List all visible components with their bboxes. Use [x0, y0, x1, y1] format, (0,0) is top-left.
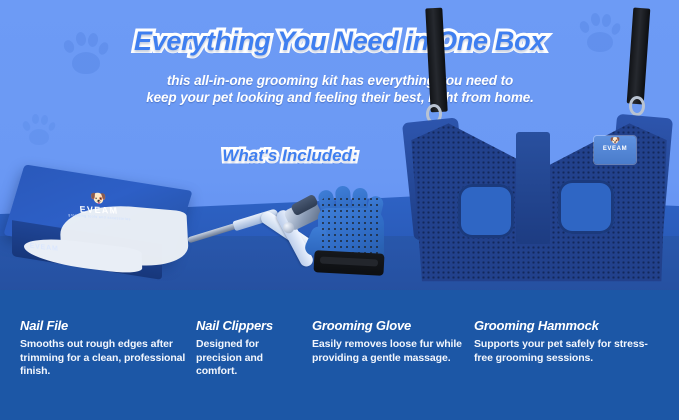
- infographic-canvas: Everything You Need in One Box this all-…: [0, 0, 679, 420]
- hammock-strap-left: [425, 8, 447, 113]
- grooming-glove-product: [310, 186, 396, 286]
- product-caption-nail-clippers: Nail Clippers Designed for precision and…: [196, 318, 302, 379]
- grooming-hammock-product: 🐶 EVEAM: [398, 8, 679, 294]
- caption-title: Nail Clippers: [196, 318, 302, 333]
- paw-print-icon: [22, 112, 56, 146]
- box-brand-logo: 🐶 EVEAM grooming tools and accessories: [65, 190, 133, 229]
- carabiner-icon-right: [629, 96, 645, 116]
- hammock-leg-hole-right: [558, 180, 614, 234]
- product-box: 🐶 EVEAM grooming tools and accessories E…: [8, 176, 188, 288]
- caption-title: Grooming Glove: [312, 318, 462, 333]
- caption-description: Smooths out rough edges after trimming f…: [20, 338, 186, 379]
- hammock-strap-right: [627, 8, 651, 105]
- product-caption-grooming-glove: Grooming Glove Easily removes loose fur …: [312, 318, 462, 365]
- product-caption-nail-file: Nail File Smooths out rough edges after …: [20, 318, 186, 379]
- caption-title: Grooming Hammock: [474, 318, 664, 333]
- glove-grooming-nubs: [320, 196, 382, 258]
- hammock-brand-patch: 🐶 EVEAM: [594, 136, 636, 164]
- hammock-center-strap: [516, 132, 550, 244]
- caption-description: Supports your pet safely for stress-free…: [474, 338, 664, 365]
- hammock-leg-hole-left: [458, 184, 514, 238]
- patch-pet-icon: 🐶: [594, 136, 636, 146]
- caption-title: Nail File: [20, 318, 186, 333]
- caption-description: Easily removes loose fur while providing…: [312, 338, 462, 365]
- caption-description: Designed for precision and comfort.: [196, 338, 302, 379]
- product-caption-list: Nail File Smooths out rough edges after …: [0, 318, 679, 418]
- included-heading: What's Included:: [150, 146, 430, 166]
- patch-brand-name: EVEAM: [594, 146, 636, 152]
- product-caption-grooming-hammock: Grooming Hammock Supports your pet safel…: [474, 318, 664, 365]
